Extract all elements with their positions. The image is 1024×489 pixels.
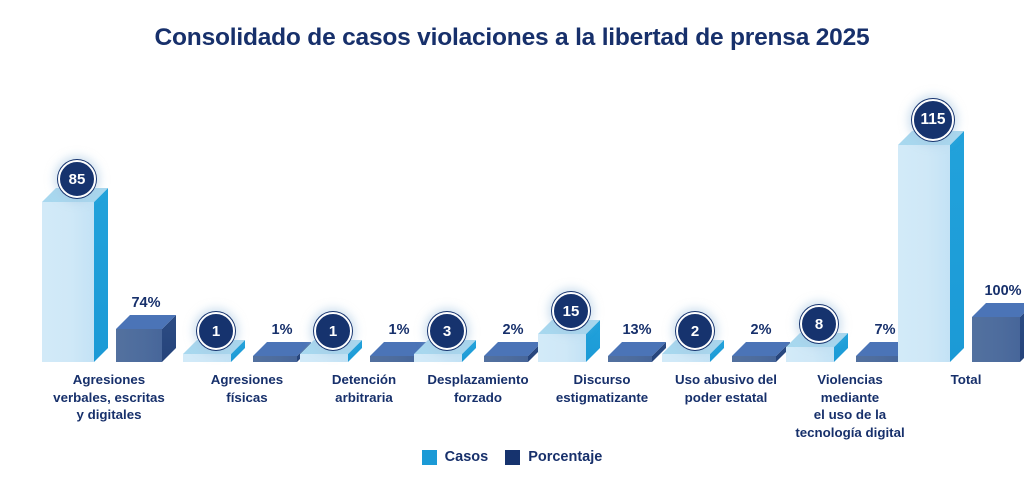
value-badge: 85 [58, 160, 96, 198]
value-badge: 8 [800, 305, 838, 343]
bar-casos [898, 145, 950, 362]
bar-side-face [94, 188, 108, 362]
bar-front-face [253, 356, 297, 362]
bar-front-face [484, 356, 528, 362]
bar-casos [300, 354, 348, 362]
bar-casos [414, 354, 462, 362]
bar-front-face [856, 356, 900, 362]
bar-casos [662, 354, 710, 362]
bar-porcentaje [608, 356, 652, 362]
value-badge: 2 [676, 312, 714, 350]
bar-front-face [300, 354, 348, 362]
bar-casos [786, 347, 834, 362]
bar-front-face [370, 356, 414, 362]
percentage-label: 1% [389, 322, 410, 338]
bar-side-face [950, 131, 964, 362]
bar-front-face [116, 329, 162, 362]
value-badge: 1 [314, 312, 352, 350]
bar-porcentaje [370, 356, 414, 362]
legend-item-casos[interactable]: Casos [422, 450, 489, 465]
bar-porcentaje [856, 356, 900, 362]
bar-front-face [732, 356, 776, 362]
bar-porcentaje [484, 356, 528, 362]
percentage-label: 13% [622, 322, 651, 338]
bar-front-face [183, 354, 231, 362]
bar-front-face [414, 354, 462, 362]
value-badge: 15 [552, 292, 590, 330]
bar-porcentaje [732, 356, 776, 362]
bar-front-face [608, 356, 652, 362]
category-label: Total [896, 371, 1024, 389]
plot-area: 8574%Agresiones verbales, escritas y dig… [0, 0, 1024, 489]
value-badge: 115 [912, 99, 954, 141]
legend-swatch-casos [422, 450, 437, 465]
chart-legend: Casos Porcentaje [0, 450, 1024, 465]
bar-casos [538, 334, 586, 362]
percentage-label: 7% [875, 322, 896, 338]
bar-porcentaje [116, 329, 162, 362]
bar-front-face [898, 145, 950, 362]
value-badge: 3 [428, 312, 466, 350]
bar-front-face [42, 202, 94, 362]
legend-swatch-porcentaje [505, 450, 520, 465]
value-badge: 1 [197, 312, 235, 350]
bar-front-face [662, 354, 710, 362]
bar-casos [42, 202, 94, 362]
percentage-label: 74% [131, 295, 160, 311]
legend-item-porcentaje[interactable]: Porcentaje [505, 450, 602, 465]
bar-top-face [972, 303, 1024, 317]
percentage-label: 100% [984, 283, 1021, 299]
percentage-label: 1% [272, 322, 293, 338]
bar-porcentaje [253, 356, 297, 362]
bar-porcentaje [972, 317, 1020, 362]
legend-label-porcentaje: Porcentaje [528, 450, 602, 465]
percentage-label: 2% [503, 322, 524, 338]
legend-label-casos: Casos [445, 450, 489, 465]
bar-casos [183, 354, 231, 362]
bar-front-face [786, 347, 834, 362]
bar-front-face [538, 334, 586, 362]
percentage-label: 2% [751, 322, 772, 338]
chart-container: Consolidado de casos violaciones a la li… [0, 0, 1024, 489]
category-label: Agresiones verbales, escritas y digitale… [24, 371, 194, 424]
bar-front-face [972, 317, 1020, 362]
